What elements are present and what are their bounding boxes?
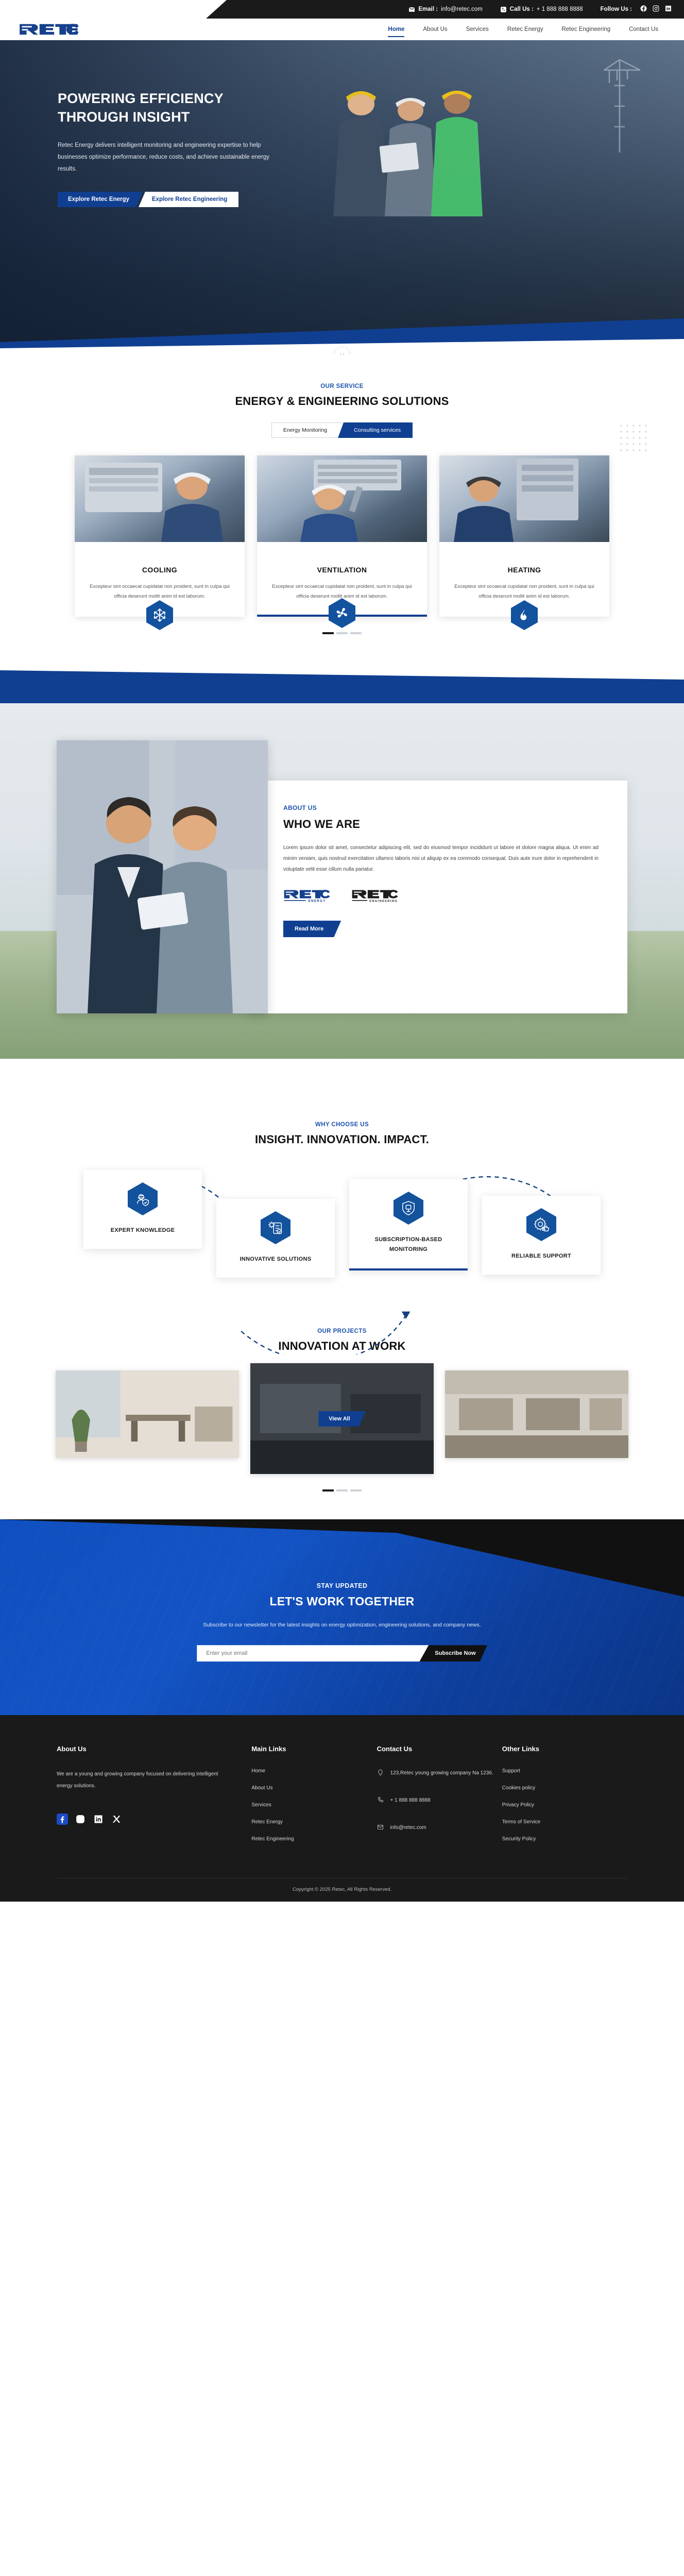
why-card-expert-knowledge[interactable]: EXPERT KNOWLEDGE	[83, 1170, 202, 1249]
location-pin-icon	[377, 1769, 384, 1776]
newsletter-eyebrow: STAY UPDATED	[0, 1582, 684, 1589]
x-twitter-icon[interactable]	[111, 1814, 122, 1825]
services-tabs: Energy Monitoring Consulting services	[0, 422, 684, 438]
email-value: info@retec.com	[441, 6, 483, 12]
service-card-text: Excepteur sint occaecat cupidatat non pr…	[88, 582, 231, 601]
why-title: INSIGHT. INNOVATION. IMPACT.	[0, 1133, 684, 1146]
projects-eyebrow: OUR PROJECTS	[0, 1328, 684, 1334]
nav-menu: Home About Us Services Retec Energy Rete…	[379, 26, 668, 32]
engineer-shield-icon	[128, 1182, 158, 1215]
linkedin-icon[interactable]	[93, 1814, 104, 1825]
footer-phone[interactable]: + 1 888 888 8888	[377, 1795, 502, 1805]
service-card-image	[257, 455, 427, 542]
hero-section: POWERING EFFICIENCY THROUGH INSIGHT Rete…	[0, 40, 684, 354]
hero-content: POWERING EFFICIENCY THROUGH INSIGHT Rete…	[0, 40, 684, 207]
top-contact-bar: Email : info@retec.com Call Us : + 1 888…	[0, 0, 684, 19]
fan-icon	[329, 598, 355, 628]
footer-email-text: info@retec.com	[390, 1823, 426, 1833]
subscription-shield-icon	[394, 1192, 423, 1225]
newsletter-form: Subscribe Now	[0, 1645, 684, 1662]
nav-item-retec-engineering[interactable]: Retec Engineering	[552, 26, 620, 32]
footer-link-cookies-policy[interactable]: Cookies policy	[502, 1785, 627, 1791]
tab-consulting-services[interactable]: Consulting services	[338, 422, 413, 438]
topbar-social-links	[640, 5, 672, 13]
mail-icon	[408, 6, 415, 13]
read-more-button[interactable]: Read More	[283, 921, 341, 937]
newsletter-content: STAY UPDATED LET'S WORK TOGETHER Subscri…	[0, 1519, 684, 1662]
gear-thumbsup-icon	[526, 1208, 556, 1241]
projects-section: OUR PROJECTS INNOVATION AT WORK View	[0, 1303, 684, 1519]
projects-carousel-dots	[0, 1489, 684, 1492]
footer-about-heading: About Us	[57, 1745, 226, 1753]
about-title: WHO WE ARE	[283, 818, 598, 831]
carousel-dot[interactable]	[336, 632, 348, 634]
why-eyebrow: WHY CHOOSE US	[0, 1122, 684, 1128]
office-interior-photo	[56, 1370, 239, 1458]
explore-retec-engineering-button[interactable]: Explore Retec Engineering	[139, 192, 238, 207]
projects-row: View All	[0, 1370, 684, 1474]
project-card-2[interactable]: View All	[250, 1363, 434, 1474]
footer-link-about-us[interactable]: About Us	[251, 1785, 377, 1791]
phone-value: + 1 888 888 8888	[537, 6, 583, 12]
footer-link-retec-engineering[interactable]: Retec Engineering	[251, 1836, 377, 1842]
topbar-white-wedge	[0, 0, 242, 19]
hvac-technician-photo	[75, 455, 245, 542]
footer-address-text: 123,Retec young growing company Na 1236.	[390, 1768, 493, 1778]
service-card-image	[75, 455, 245, 542]
footer-about-text: We are a young and growing company focus…	[57, 1768, 226, 1792]
heating-technician-photo	[439, 455, 609, 542]
svg-text:ENERGY: ENERGY	[309, 899, 326, 903]
about-section: ABOUT US WHO WE ARE Lorem ipsum dolor si…	[0, 670, 684, 1090]
why-card-reliable-support[interactable]: RELIABLE SUPPORT	[482, 1196, 601, 1275]
footer-main-links-column: Main Links Home About Us Services Retec …	[251, 1745, 377, 1853]
nav-item-retec-energy[interactable]: Retec Energy	[498, 26, 553, 32]
footer-address: 123,Retec young growing company Na 1236.	[377, 1768, 502, 1778]
footer-other-links-column: Other Links Support Cookies policy Priva…	[502, 1745, 627, 1853]
footer-other-links-heading: Other Links	[502, 1745, 627, 1753]
about-paragraph: Lorem ipsum dolor sit amet, consectetur …	[283, 842, 598, 875]
carousel-dot[interactable]	[350, 1489, 362, 1492]
phone-icon	[500, 6, 507, 13]
why-card-label: RELIABLE SUPPORT	[489, 1251, 593, 1261]
services-title: ENERGY & ENGINEERING SOLUTIONS	[0, 395, 684, 408]
email-label: Email :	[418, 6, 438, 12]
nav-item-about-us[interactable]: About Us	[414, 26, 456, 32]
carousel-dot[interactable]	[350, 632, 362, 634]
footer-link-services[interactable]: Services	[251, 1802, 377, 1808]
instagram-icon[interactable]	[75, 1814, 86, 1825]
topbar-follow: Follow Us :	[601, 5, 672, 13]
facebook-icon[interactable]	[640, 5, 647, 13]
site-footer: About Us We are a young and growing comp…	[0, 1715, 684, 1902]
about-eyebrow: ABOUT US	[283, 804, 598, 811]
project-card-1[interactable]	[56, 1370, 239, 1458]
newsletter-title: LET'S WORK TOGETHER	[0, 1595, 684, 1608]
service-card-title: HEATING	[439, 566, 609, 574]
footer-link-terms-of-service[interactable]: Terms of Service	[502, 1819, 627, 1825]
facebook-icon[interactable]	[57, 1814, 68, 1825]
newsletter-section: STAY UPDATED LET'S WORK TOGETHER Subscri…	[0, 1519, 684, 1715]
why-choose-us-section: WHY CHOOSE US INSIGHT. INNOVATION. IMPAC…	[0, 1090, 684, 1303]
hero-title-line2: THROUGH INSIGHT	[58, 109, 190, 125]
footer-email[interactable]: info@retec.com	[377, 1823, 502, 1833]
view-all-button[interactable]: View All	[318, 1411, 366, 1427]
subscribe-now-button[interactable]: Subscribe Now	[419, 1645, 487, 1662]
hero-title-line1: POWERING EFFICIENCY	[58, 91, 224, 106]
explore-retec-energy-button[interactable]: Explore Retec Energy	[58, 192, 143, 207]
carousel-dot[interactable]	[336, 1489, 348, 1492]
footer-link-security-policy[interactable]: Security Policy	[502, 1836, 627, 1842]
why-card-innovative-solutions[interactable]: INNOVATIVE SOLUTIONS	[216, 1199, 335, 1278]
footer-main-links-heading: Main Links	[251, 1745, 377, 1753]
footer-link-retec-energy[interactable]: Retec Energy	[251, 1819, 377, 1825]
instagram-icon[interactable]	[653, 5, 659, 13]
svg-text:ENGINEERING: ENGINEERING	[370, 900, 398, 903]
tab-energy-monitoring[interactable]: Energy Monitoring	[271, 422, 343, 438]
about-content: ABOUT US WHO WE ARE Lorem ipsum dolor si…	[57, 740, 627, 1013]
why-card-label: EXPERT KNOWLEDGE	[91, 1226, 195, 1235]
footer-about-column: About Us We are a young and growing comp…	[57, 1745, 251, 1853]
retec-logo[interactable]	[19, 23, 79, 36]
footer-phone-text: + 1 888 888 8888	[390, 1795, 431, 1805]
services-section: OUR SERVICE ENERGY & ENGINEERING SOLUTIO…	[0, 354, 684, 670]
services-carousel-dots	[0, 632, 684, 634]
ventilation-technician-photo	[257, 455, 427, 542]
about-team-photo	[57, 740, 268, 1013]
nav-item-contact-us[interactable]: Contact Us	[620, 26, 668, 32]
phone-label: Call Us :	[510, 6, 534, 12]
nav-item-services[interactable]: Services	[457, 26, 498, 32]
newsletter-paragraph: Subscribe to our newsletter for the late…	[0, 1620, 684, 1631]
chevron-down-icon	[339, 352, 345, 355]
service-cards: COOLING Excepteur sint occaecat cupidata…	[0, 455, 684, 617]
phone-icon	[377, 1796, 384, 1804]
follow-label: Follow Us :	[601, 6, 632, 12]
carousel-dot[interactable]	[322, 632, 334, 634]
retec-engineering-logo[interactable]: ENGINEERING	[351, 889, 405, 905]
footer-copyright: Copyright © 2025 Retec, All Rights Reser…	[57, 1878, 627, 1902]
service-card-cooling[interactable]: COOLING Excepteur sint occaecat cupidata…	[75, 455, 245, 617]
footer-social-links	[57, 1814, 226, 1825]
flame-icon	[511, 600, 538, 630]
about-blue-band	[0, 670, 684, 703]
gear-checklist-icon	[261, 1211, 290, 1244]
hero-title: POWERING EFFICIENCY THROUGH INSIGHT	[58, 90, 346, 126]
footer-columns: About Us We are a young and growing comp…	[57, 1745, 627, 1853]
projects-title: INNOVATION AT WORK	[0, 1340, 684, 1353]
why-card-label: INNOVATIVE SOLUTIONS	[224, 1255, 328, 1264]
about-text-card: ABOUT US WHO WE ARE Lorem ipsum dolor si…	[247, 781, 627, 1013]
why-card-subscription-based-monitoring[interactable]: SUBSCRIPTION-BASED MONITORING	[349, 1179, 468, 1270]
footer-link-privacy-policy[interactable]: Privacy Policy	[502, 1802, 627, 1808]
about-background: ABOUT US WHO WE ARE Lorem ipsum dolor si…	[0, 703, 684, 1059]
retec-energy-logo[interactable]: ENERGY	[283, 889, 333, 905]
footer-contact-heading: Contact Us	[377, 1745, 502, 1753]
project-card-3[interactable]	[445, 1370, 628, 1458]
dot-grid-decoration	[619, 423, 652, 456]
mail-icon	[377, 1823, 384, 1831]
why-cards-row: EXPERT KNOWLEDGE INNOVATIVE SOLUTIONS SU…	[0, 1170, 684, 1278]
main-navigation: Home About Us Services Retec Energy Rete…	[0, 19, 684, 40]
footer-link-home[interactable]: Home	[251, 1768, 377, 1774]
service-card-title: COOLING	[75, 566, 245, 574]
service-card-text: Excepteur sint occaecat cupidatat non pr…	[453, 582, 596, 601]
about-brand-logos: ENERGY	[283, 889, 598, 905]
service-card-heating[interactable]: HEATING Excepteur sint occaecat cupidata…	[439, 455, 609, 617]
nav-item-home[interactable]: Home	[379, 26, 414, 32]
hero-paragraph: Retec Energy delivers intelligent monito…	[58, 140, 274, 175]
services-eyebrow: OUR SERVICE	[0, 383, 684, 389]
snowflake-icon	[146, 600, 173, 630]
footer-contact-column: Contact Us 123,Retec young growing compa…	[377, 1745, 502, 1853]
hero-buttons: Explore Retec Energy Explore Retec Engin…	[58, 192, 684, 207]
why-card-label: SUBSCRIPTION-BASED MONITORING	[356, 1235, 460, 1255]
service-card-title: VENTILATION	[257, 566, 427, 574]
service-card-ventilation[interactable]: VENTILATION Excepteur sint occaecat cupi…	[257, 455, 427, 617]
topbar-email[interactable]: Email : info@retec.com	[408, 6, 482, 13]
carousel-dot[interactable]	[322, 1489, 334, 1492]
newsletter-email-input[interactable]	[197, 1645, 429, 1662]
topbar-phone[interactable]: Call Us : + 1 888 888 8888	[500, 6, 583, 13]
warehouse-photo	[445, 1370, 628, 1458]
service-card-image	[439, 455, 609, 542]
footer-link-support[interactable]: Support	[502, 1768, 627, 1774]
linkedin-icon[interactable]	[665, 5, 672, 13]
